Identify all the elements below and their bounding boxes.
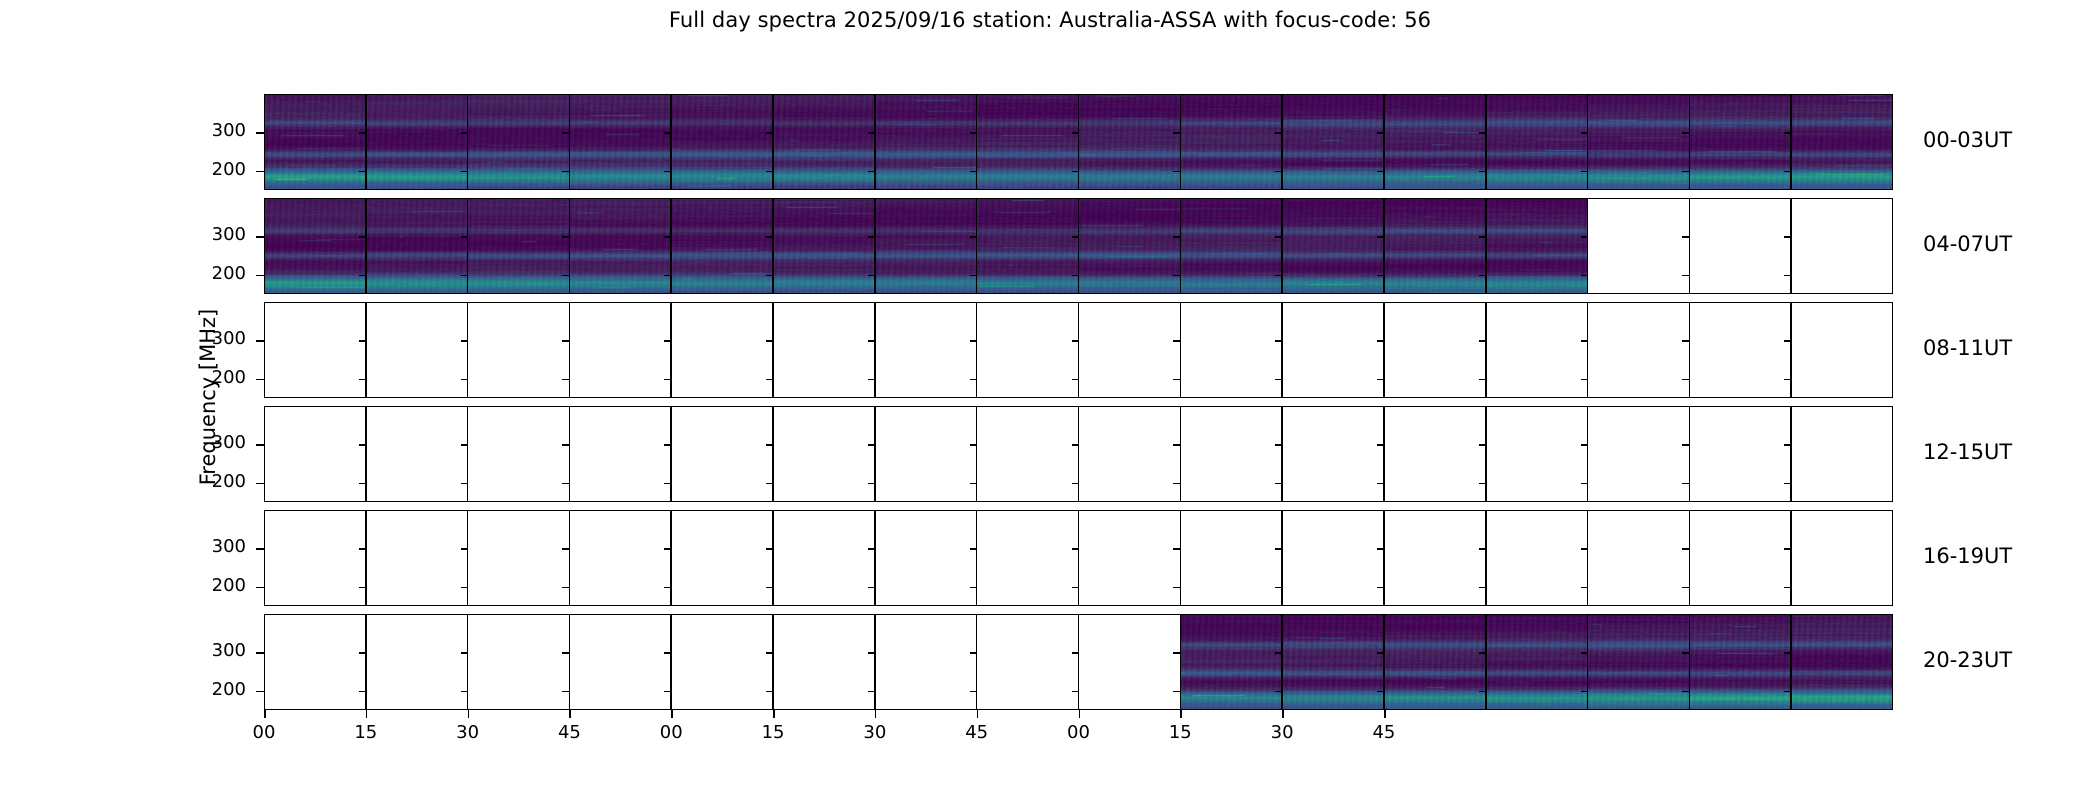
y-tick-mark-inner (461, 340, 468, 342)
x-tick-label: 15 (1140, 722, 1220, 743)
y-tick-mark-inner (1682, 444, 1689, 446)
y-tick-mark-inner (1784, 587, 1791, 589)
y-tick-mark-inner (868, 340, 875, 342)
row-time-label: 16-19UT (1923, 544, 2012, 568)
y-tick-mark-inner (1581, 548, 1588, 550)
row-time-label: 12-15UT (1923, 440, 2012, 464)
x-tick-mark (875, 710, 877, 718)
spectrogram-row (264, 94, 1893, 190)
y-tick-mark-inner (1173, 379, 1180, 381)
y-tick-mark-inner (664, 548, 671, 550)
y-tick-mark-inner (1682, 691, 1689, 693)
x-tick-mark (1282, 710, 1284, 718)
y-tick-mark-inner (1275, 236, 1282, 238)
y-tick-label: 200 (186, 159, 246, 180)
y-tick-mark-inner (562, 652, 569, 654)
y-tick-mark (256, 691, 264, 693)
row-time-label: 00-03UT (1923, 128, 2012, 152)
y-tick-mark-inner (1581, 275, 1588, 277)
y-tick-mark-inner (562, 587, 569, 589)
y-tick-mark-inner (868, 444, 875, 446)
y-tick-mark-inner (461, 652, 468, 654)
x-tick-label: 15 (326, 722, 406, 743)
row-frame (264, 510, 1893, 606)
y-tick-mark-inner (562, 379, 569, 381)
y-tick-mark-inner (1377, 691, 1384, 693)
y-tick-mark-inner (1581, 483, 1588, 485)
y-tick-mark-inner (1581, 132, 1588, 134)
y-tick-mark-inner (1377, 444, 1384, 446)
y-tick-mark-inner (1173, 275, 1180, 277)
y-tick-mark-inner (1377, 275, 1384, 277)
y-tick-mark-inner (1173, 483, 1180, 485)
y-tick-mark-inner (359, 691, 366, 693)
y-tick-mark-inner (1784, 275, 1791, 277)
row-frame (264, 302, 1893, 398)
y-tick-mark-inner (562, 444, 569, 446)
row-frame (264, 406, 1893, 502)
x-tick-mark (569, 710, 571, 718)
y-tick-mark-inner (461, 587, 468, 589)
spectrogram-row (264, 406, 1893, 502)
row-time-label: 20-23UT (1923, 648, 2012, 672)
y-tick-mark-inner (1479, 379, 1486, 381)
y-tick-mark-inner (970, 132, 977, 134)
row-frame (264, 614, 1893, 710)
x-tick-mark (366, 710, 368, 718)
y-tick-mark-inner (1682, 236, 1689, 238)
y-tick-mark-inner (1072, 236, 1079, 238)
y-tick-mark-inner (664, 132, 671, 134)
y-tick-mark-inner (766, 275, 773, 277)
y-tick-mark-inner (1072, 171, 1079, 173)
x-tick-mark (1079, 710, 1081, 718)
y-tick-mark-inner (1173, 652, 1180, 654)
y-tick-mark-inner (1479, 444, 1486, 446)
y-tick-mark-inner (664, 652, 671, 654)
y-tick-mark-inner (868, 171, 875, 173)
y-tick-mark-inner (1377, 548, 1384, 550)
y-tick-mark-inner (868, 275, 875, 277)
y-tick-mark-inner (664, 691, 671, 693)
y-tick-mark-inner (1173, 132, 1180, 134)
y-tick-mark-inner (1784, 652, 1791, 654)
y-tick-mark-inner (1479, 652, 1486, 654)
y-tick-mark-inner (1479, 236, 1486, 238)
y-tick-mark-inner (461, 171, 468, 173)
y-tick-mark-inner (970, 379, 977, 381)
x-tick-label: 30 (1242, 722, 1322, 743)
y-tick-mark-inner (562, 548, 569, 550)
y-tick-mark (256, 652, 264, 654)
x-tick-label: 45 (529, 722, 609, 743)
y-tick-mark-inner (664, 171, 671, 173)
y-tick-mark-inner (1072, 483, 1079, 485)
y-tick-mark-inner (766, 587, 773, 589)
y-tick-mark-inner (970, 444, 977, 446)
y-tick-mark-inner (970, 691, 977, 693)
y-tick-mark-inner (1581, 444, 1588, 446)
y-tick-mark-inner (664, 236, 671, 238)
y-tick-mark-inner (766, 652, 773, 654)
y-tick-mark-inner (359, 379, 366, 381)
y-tick-mark-inner (461, 379, 468, 381)
y-tick-mark-inner (766, 171, 773, 173)
y-tick-mark-inner (1275, 340, 1282, 342)
y-tick-mark-inner (970, 587, 977, 589)
y-tick-mark-inner (1479, 275, 1486, 277)
y-tick-mark-inner (766, 691, 773, 693)
y-tick-mark-inner (1581, 587, 1588, 589)
y-tick-mark-inner (1377, 340, 1384, 342)
y-tick-label: 200 (186, 471, 246, 492)
y-tick-mark-inner (461, 444, 468, 446)
y-tick-mark-inner (1377, 132, 1384, 134)
y-tick-mark-inner (1479, 340, 1486, 342)
y-tick-mark-inner (664, 379, 671, 381)
y-tick-mark-inner (461, 691, 468, 693)
y-tick-mark-inner (359, 548, 366, 550)
y-tick-mark-inner (1275, 275, 1282, 277)
x-tick-mark (1384, 710, 1386, 718)
y-tick-mark-inner (461, 548, 468, 550)
y-tick-mark-inner (766, 548, 773, 550)
y-tick-mark-inner (1275, 548, 1282, 550)
x-tick-label: 45 (1344, 722, 1424, 743)
y-tick-mark (256, 379, 264, 381)
y-tick-mark-inner (1377, 652, 1384, 654)
y-tick-mark (256, 548, 264, 550)
x-tick-label: 00 (224, 722, 304, 743)
y-tick-mark-inner (1072, 587, 1079, 589)
y-tick-mark-inner (1072, 652, 1079, 654)
y-tick-mark (256, 132, 264, 134)
y-tick-mark-inner (766, 483, 773, 485)
y-tick-mark-inner (1377, 171, 1384, 173)
y-tick-mark-inner (1275, 444, 1282, 446)
y-tick-mark-inner (970, 652, 977, 654)
y-tick-mark-inner (766, 444, 773, 446)
y-tick-mark-inner (1581, 236, 1588, 238)
x-tick-mark (671, 710, 673, 718)
y-tick-mark-inner (1784, 548, 1791, 550)
y-tick-mark-inner (1682, 652, 1689, 654)
x-tick-label: 00 (1039, 722, 1119, 743)
y-tick-mark-inner (1784, 171, 1791, 173)
y-tick-mark-inner (970, 340, 977, 342)
x-tick-mark (468, 710, 470, 718)
y-tick-mark (256, 340, 264, 342)
y-tick-mark-inner (1581, 171, 1588, 173)
y-tick-mark-inner (868, 587, 875, 589)
x-tick-label: 30 (835, 722, 915, 743)
x-tick-mark (977, 710, 979, 718)
y-tick-mark-inner (970, 275, 977, 277)
y-tick-mark-inner (1581, 691, 1588, 693)
figure-title: Full day spectra 2025/09/16 station: Aus… (0, 8, 2100, 32)
spectrogram-row (264, 198, 1893, 294)
y-tick-mark-inner (1682, 483, 1689, 485)
y-tick-mark-inner (562, 691, 569, 693)
y-tick-mark-inner (1072, 275, 1079, 277)
row-time-label: 08-11UT (1923, 336, 2012, 360)
y-tick-mark-inner (359, 483, 366, 485)
x-tick-mark (773, 710, 775, 718)
y-tick-mark-inner (868, 548, 875, 550)
y-tick-mark-inner (1784, 444, 1791, 446)
y-tick-mark-inner (1072, 379, 1079, 381)
y-tick-mark-inner (359, 171, 366, 173)
y-tick-mark-inner (766, 340, 773, 342)
y-tick-label: 200 (186, 263, 246, 284)
y-tick-label: 300 (186, 536, 246, 557)
y-tick-mark-inner (1682, 379, 1689, 381)
x-tick-label: 15 (733, 722, 813, 743)
y-tick-mark-inner (1581, 379, 1588, 381)
x-tick-label: 45 (937, 722, 1017, 743)
y-tick-mark-inner (868, 691, 875, 693)
y-tick-mark-inner (461, 483, 468, 485)
y-tick-mark-inner (1682, 587, 1689, 589)
y-tick-mark-inner (1275, 691, 1282, 693)
y-tick-mark-inner (359, 652, 366, 654)
y-tick-mark-inner (664, 587, 671, 589)
y-tick-mark-inner (1275, 132, 1282, 134)
y-tick-mark (256, 587, 264, 589)
y-tick-mark-inner (359, 587, 366, 589)
y-tick-mark-inner (562, 340, 569, 342)
y-tick-mark-inner (664, 275, 671, 277)
y-tick-mark-inner (1479, 483, 1486, 485)
y-tick-mark-inner (970, 483, 977, 485)
y-tick-mark-inner (1377, 379, 1384, 381)
y-tick-mark-inner (1784, 483, 1791, 485)
y-tick-mark-inner (562, 171, 569, 173)
y-tick-mark (256, 275, 264, 277)
y-tick-mark-inner (1072, 444, 1079, 446)
row-frame (264, 198, 1893, 294)
y-tick-mark-inner (766, 379, 773, 381)
y-tick-mark-inner (868, 483, 875, 485)
y-tick-label: 200 (186, 575, 246, 596)
y-tick-label: 200 (186, 367, 246, 388)
y-tick-mark-inner (868, 652, 875, 654)
y-tick-mark-inner (1479, 587, 1486, 589)
y-tick-mark-inner (1275, 171, 1282, 173)
y-tick-mark-inner (1173, 171, 1180, 173)
y-tick-mark-inner (766, 132, 773, 134)
y-tick-label: 200 (186, 679, 246, 700)
y-tick-mark (256, 236, 264, 238)
y-tick-mark-inner (1581, 340, 1588, 342)
y-tick-mark-inner (1072, 691, 1079, 693)
y-tick-mark-inner (1479, 691, 1486, 693)
y-tick-mark-inner (970, 171, 977, 173)
y-tick-mark-inner (1784, 236, 1791, 238)
y-tick-mark-inner (1072, 340, 1079, 342)
y-tick-mark-inner (1784, 691, 1791, 693)
y-tick-label: 300 (186, 328, 246, 349)
y-tick-mark-inner (1682, 275, 1689, 277)
y-tick-mark-inner (562, 483, 569, 485)
spectrogram-row (264, 614, 1893, 710)
y-tick-mark-inner (1682, 340, 1689, 342)
y-tick-mark-inner (359, 132, 366, 134)
y-tick-mark-inner (359, 236, 366, 238)
y-tick-mark-inner (1682, 548, 1689, 550)
y-tick-mark-inner (461, 132, 468, 134)
y-tick-mark-inner (1072, 548, 1079, 550)
y-tick-mark-inner (359, 444, 366, 446)
y-tick-mark-inner (868, 132, 875, 134)
y-tick-mark-inner (664, 444, 671, 446)
x-tick-label: 30 (428, 722, 508, 743)
y-tick-mark-inner (1479, 171, 1486, 173)
y-tick-mark-inner (1173, 587, 1180, 589)
y-tick-mark-inner (1173, 340, 1180, 342)
y-tick-mark-inner (1275, 379, 1282, 381)
y-tick-mark-inner (1479, 548, 1486, 550)
y-tick-mark-inner (562, 275, 569, 277)
y-tick-mark-inner (1682, 132, 1689, 134)
y-tick-mark-inner (1275, 652, 1282, 654)
y-tick-label: 300 (186, 120, 246, 141)
y-tick-mark (256, 444, 264, 446)
y-tick-mark (256, 483, 264, 485)
y-tick-mark-inner (359, 275, 366, 277)
x-tick-mark (264, 710, 266, 718)
y-tick-mark-inner (1072, 132, 1079, 134)
y-tick-mark-inner (1479, 132, 1486, 134)
y-tick-mark-inner (1784, 132, 1791, 134)
y-tick-label: 300 (186, 640, 246, 661)
y-tick-mark-inner (1377, 587, 1384, 589)
row-time-label: 04-07UT (1923, 232, 2012, 256)
y-tick-mark-inner (1377, 236, 1384, 238)
y-tick-mark-inner (461, 236, 468, 238)
y-tick-mark-inner (1784, 340, 1791, 342)
y-tick-mark-inner (1173, 691, 1180, 693)
y-tick-mark-inner (664, 483, 671, 485)
y-tick-mark-inner (1173, 444, 1180, 446)
y-tick-mark-inner (1581, 652, 1588, 654)
row-frame (264, 94, 1893, 190)
y-tick-mark-inner (461, 275, 468, 277)
y-tick-mark-inner (664, 340, 671, 342)
y-tick-mark-inner (868, 379, 875, 381)
y-tick-mark-inner (1173, 548, 1180, 550)
y-tick-mark-inner (562, 132, 569, 134)
y-tick-mark-inner (562, 236, 569, 238)
y-tick-label: 300 (186, 432, 246, 453)
y-tick-mark-inner (766, 236, 773, 238)
y-tick-mark-inner (1377, 483, 1384, 485)
spectrogram-row (264, 302, 1893, 398)
y-tick-mark (256, 171, 264, 173)
y-tick-mark-inner (1784, 379, 1791, 381)
y-tick-mark-inner (1682, 171, 1689, 173)
y-tick-mark-inner (1173, 236, 1180, 238)
spectrogram-row (264, 510, 1893, 606)
x-tick-mark (1180, 710, 1182, 718)
x-tick-label: 00 (631, 722, 711, 743)
y-tick-mark-inner (970, 548, 977, 550)
y-tick-mark-inner (1275, 483, 1282, 485)
y-tick-label: 300 (186, 224, 246, 245)
y-tick-mark-inner (868, 236, 875, 238)
y-tick-mark-inner (970, 236, 977, 238)
y-tick-mark-inner (359, 340, 366, 342)
figure-canvas: Full day spectra 2025/09/16 station: Aus… (0, 0, 2100, 800)
y-tick-mark-inner (1275, 587, 1282, 589)
